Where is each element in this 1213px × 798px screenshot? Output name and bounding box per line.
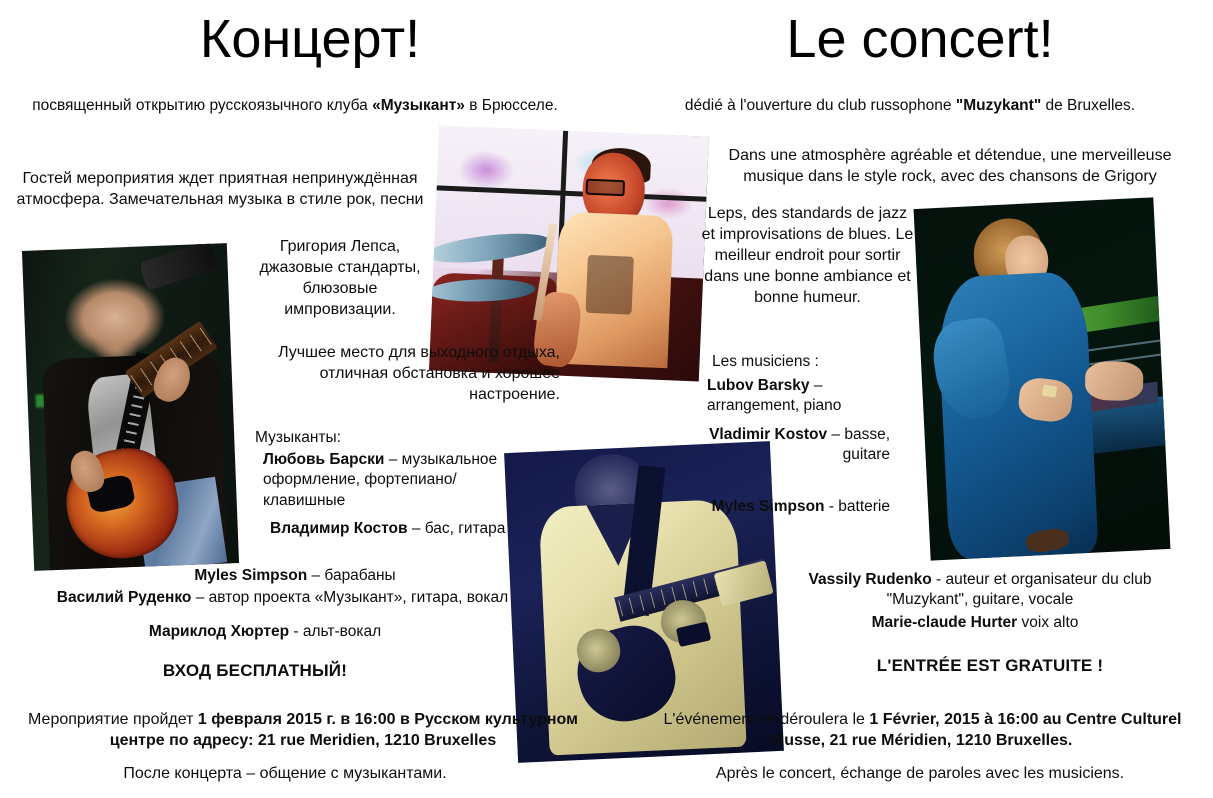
musician-role: voix alto [1017,614,1078,631]
musician-name: Владимир Костов [270,520,412,537]
musician-role: – basse, guitare [827,426,890,463]
musician-row-ru-3: Василий Руденко – автор проекта «Музыкан… [10,588,555,608]
venue-info-fr: L'événement se déroulera le 1 Février, 2… [640,709,1205,751]
musician-row-fr-3: Vassily Rudenko - auteur et organisateur… [780,570,1180,611]
page-title-fr: Le concert! [680,12,1160,66]
musician-role: – бас, гитара [412,520,506,537]
musician-name: Lubov Barsky [707,377,810,394]
venue-info-ru: Мероприятие пройдет 1 февраля 2015 г. в … [8,709,598,751]
musician-name: Vladimir Kostov [709,426,827,443]
musician-name: Marie-claude Hurter [872,614,1018,631]
page-title-ru: Концерт! [60,12,560,66]
club-name-fr: "Muzykant" [956,97,1041,114]
body-paragraph-1-fr: Dans une atmosphère agréable et détendue… [700,145,1200,187]
musician-name: Василий Руденко [57,589,192,606]
musician-name: Myles Simpson [712,498,825,515]
musician-row-ru-2: Myles Simpson – барабаны [150,566,440,586]
musician-name: Myles Simpson [194,567,307,584]
after-concert-fr: Après le concert, échange de paroles ave… [670,763,1170,784]
musician-role: - альт-вокал [289,623,381,640]
musician-name: Любовь Барски [263,451,384,468]
musician-row-fr-4: Marie-claude Hurter voix alto [790,613,1160,633]
musicians-heading-fr: Les musiciens : [712,352,932,372]
lead-text-fr: dédié à l'ouverture du club russophone "… [630,96,1190,116]
musicians-heading-ru: Музыканты: [255,428,515,448]
body-paragraph-2-fr: Leps, des standards de jazz et improvisa… [700,203,915,309]
musician-row-fr-0: Lubov Barsky – arrangement, piano [707,376,907,417]
musician-name: Мариклод Хюртер [149,623,289,640]
lead-fr-part1: dédié à l'ouverture du club russophone [685,97,956,114]
lead-text-ru: посвященный открытию русскоязычного клуб… [30,96,560,116]
venue-ru-prefix: Мероприятие пройдет [28,711,198,728]
musician-role: – автор проекта «Музыкант», гитара, вока… [191,589,508,606]
free-entry-fr: L'ENTRÉE EST GRATUITE ! [790,655,1190,677]
lead-ru-part2: в Брюсселе. [465,97,558,114]
musician-row-fr-2: Myles Simpson - batterie [700,497,890,517]
body-paragraph-2-ru: Григория Лепса, джазовые стандарты, блюз… [245,236,435,320]
lead-fr-part2: de Bruxelles. [1041,97,1135,114]
lead-ru-part1: посвященный открытию русскоязычного клуб… [32,97,372,114]
musician-name: Vassily Rudenko [809,571,932,588]
musician-row-ru-0: Любовь Барски – музыкальное оформление, … [263,450,513,511]
musician-row-fr-1: Vladimir Kostov – basse, guitare [700,425,890,466]
musician-row-ru-1: Владимир Костов – бас, гитара [270,519,530,539]
musician-row-ru-4: Мариклод Хюртер - альт-вокал [30,622,500,642]
guitarist-photo [22,243,239,571]
musician-role: - batterie [825,498,890,515]
club-name-ru: «Музыкант» [372,97,465,114]
pianist-photo [914,197,1171,560]
body-paragraph-1-ru: Гостей мероприятия ждет приятная неприну… [10,168,430,210]
after-concert-ru: После концерта – общение с музыкантами. [40,763,530,784]
concert-poster: Концерт! посвященный открытию русскоязыч… [0,0,1213,798]
free-entry-ru: ВХОД БЕСПЛАТНЫЙ! [30,660,480,682]
musician-role: – барабаны [307,567,395,584]
body-paragraph-3-ru: Лучшее место для выходного отдыха, отлич… [230,342,560,405]
venue-fr-prefix: L'événement se déroulera le [663,711,869,728]
